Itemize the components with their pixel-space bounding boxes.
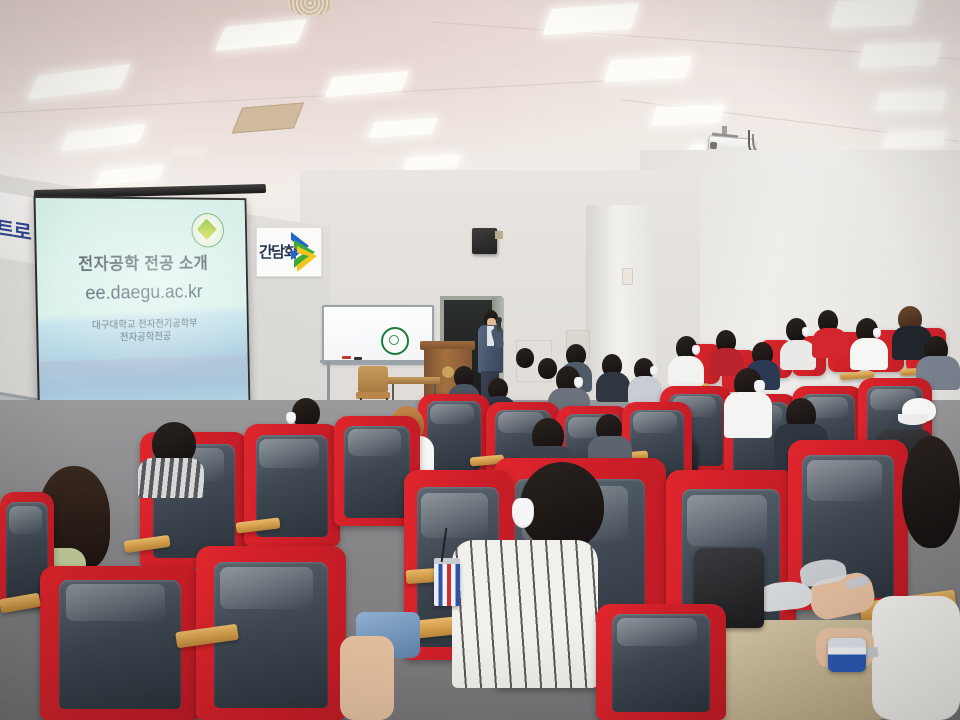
- whiteboard-tray: [320, 360, 432, 363]
- audience-body: [596, 372, 630, 402]
- chevron-ribbon-logo: [289, 230, 319, 274]
- audience-head: [538, 358, 557, 379]
- audience-body: [668, 356, 704, 386]
- leg: [340, 636, 394, 720]
- ceiling-light: [876, 91, 946, 110]
- face-mask: [574, 377, 583, 388]
- audience-head: [516, 348, 534, 368]
- beverage-can-with-straw[interactable]: [434, 562, 460, 606]
- whiteboard: [322, 305, 434, 365]
- speaker-bracket: [495, 231, 503, 239]
- face-mask: [650, 366, 658, 376]
- face-mask: [802, 327, 810, 337]
- audience-body: [724, 392, 772, 438]
- podium-emblem: [441, 365, 455, 379]
- wooden-chair-back[interactable]: [358, 366, 388, 392]
- microphone-head: [496, 317, 502, 323]
- projector-lens: [710, 142, 718, 150]
- audience-body-striped-shirt: [452, 540, 598, 688]
- audience-body-striped: [138, 458, 204, 498]
- ceiling-fixture: [170, 148, 207, 155]
- audience-body: [812, 328, 848, 358]
- side-desk: [388, 377, 440, 384]
- white-sleeve: [872, 596, 960, 720]
- cap-brim: [898, 414, 928, 425]
- wall-speaker: [472, 228, 497, 254]
- beverage-can-held[interactable]: [828, 638, 866, 672]
- face-mask: [286, 412, 296, 424]
- audience-head: [902, 436, 960, 548]
- green-circle-logo: [381, 327, 409, 355]
- ceiling-light: [830, 0, 918, 27]
- event-poster: 간담회: [256, 227, 322, 277]
- wall-outlet[interactable]: [622, 268, 633, 285]
- ceiling-light: [859, 43, 941, 68]
- seat[interactable]: [596, 604, 726, 720]
- audience-body: [850, 338, 888, 370]
- lecture-hall-photo: 트로 간담회: [0, 0, 960, 720]
- audience-body: [780, 340, 816, 370]
- face-mask: [512, 498, 534, 528]
- whiteboard-marker[interactable]: [342, 356, 351, 359]
- face-mask: [692, 345, 700, 355]
- face-mask: [873, 328, 881, 338]
- ceiling-light: [604, 56, 692, 82]
- audience-body: [628, 376, 662, 404]
- ceiling-light: [884, 131, 945, 147]
- can-top: [434, 558, 460, 564]
- whiteboard-leg: [327, 362, 330, 402]
